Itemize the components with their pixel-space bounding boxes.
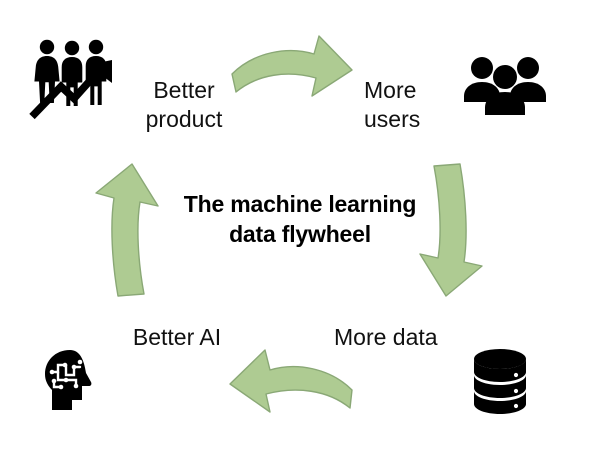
node-label-better-ai: Better AI — [112, 323, 242, 352]
people-growth-chart-icon — [28, 36, 120, 120]
node-label-more-users: More users — [364, 76, 474, 135]
ai-head-icon — [40, 348, 104, 414]
database-icon — [468, 346, 532, 414]
diagram-title: The machine learning data flywheel — [150, 190, 450, 250]
arrow-more-users-to-more-data — [412, 162, 518, 298]
user-group-icon — [462, 52, 548, 118]
node-label-more-data: More data — [334, 323, 474, 352]
arrow-better-product-to-more-users — [226, 18, 358, 118]
flywheel-diagram: Better product More users — [0, 0, 600, 450]
